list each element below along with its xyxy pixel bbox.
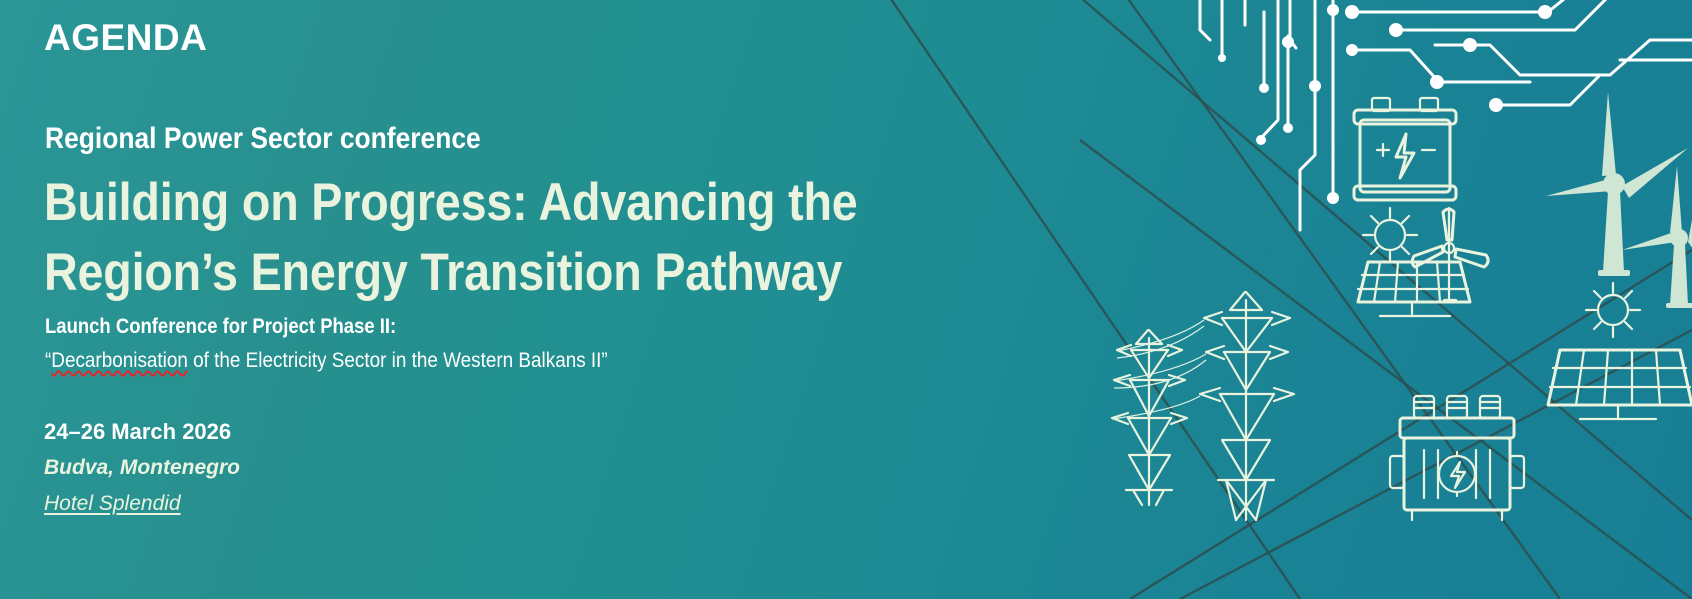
solar-panel-icon <box>1358 262 1470 316</box>
transmission-tower-icon <box>1200 292 1294 520</box>
sun-icon <box>1363 208 1417 262</box>
banner-content: AGENDA Regional Power Sector conference … <box>44 0 1044 599</box>
wind-turbine-icon <box>1546 92 1688 276</box>
wind-turbine-icon <box>1412 208 1488 300</box>
event-city: Budva, Montenegro <box>44 456 240 480</box>
event-venue-link[interactable]: Hotel Splendid <box>44 492 181 516</box>
battery-icon <box>1354 98 1456 200</box>
project-title-rest: of the Electricity Sector in the Western… <box>188 349 608 372</box>
headline-line-1: Building on Progress: Advancing the <box>44 168 858 238</box>
power-line-icon <box>1112 320 1206 419</box>
solar-panel-icon <box>1548 350 1692 419</box>
conference-kicker: Regional Power Sector conference <box>45 122 481 156</box>
event-date: 24–26 March 2026 <box>44 419 231 445</box>
headline-line-2: Region’s Energy Transition Pathway <box>44 238 889 308</box>
headline: Building on Progress: Advancing the Regi… <box>44 168 1004 309</box>
agenda-banner: .ln { fill:none; stroke:#e9f3dd; stroke-… <box>0 0 1692 599</box>
project-phase-label: Launch Conference for Project Phase II: <box>45 315 396 339</box>
misspelled-word: Decarbonisation <box>51 349 188 372</box>
project-title: “Decarbonisation of the Electricity Sect… <box>45 349 608 373</box>
page-title: AGENDA <box>44 18 207 59</box>
sun-icon <box>1586 283 1640 337</box>
